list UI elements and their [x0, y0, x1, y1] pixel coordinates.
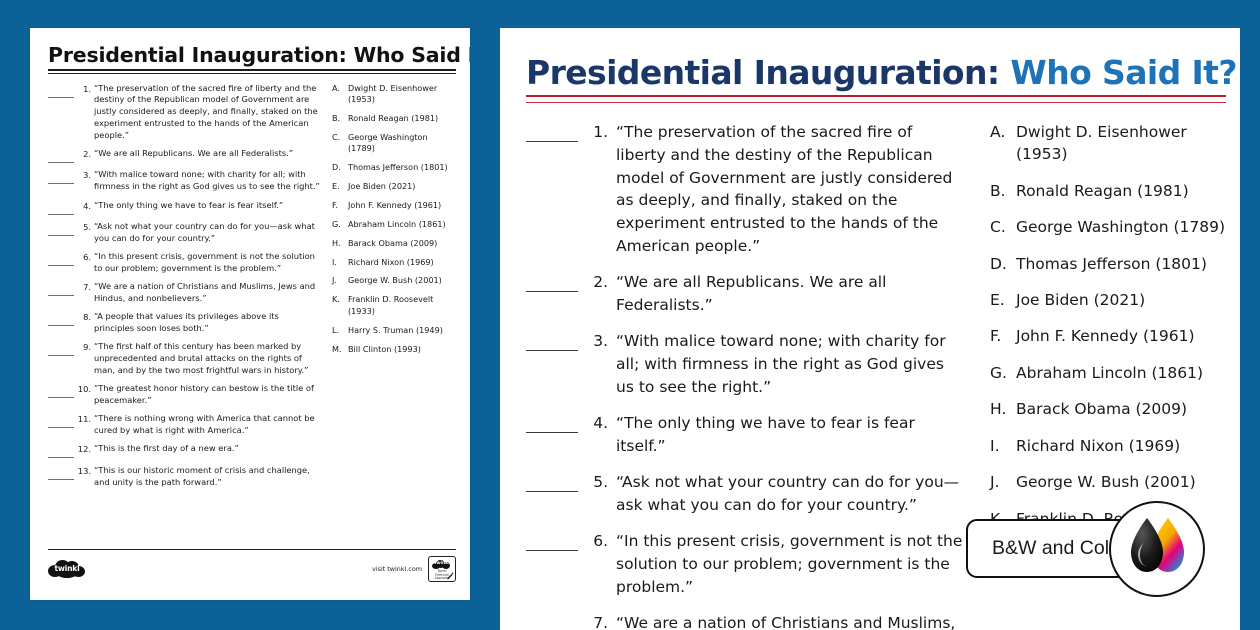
answer-letter: B. [990, 180, 1016, 202]
answer-blank-line[interactable] [526, 417, 578, 433]
answer-name: Bill Clinton (1993) [348, 344, 456, 355]
answer-row: A.Dwight D. Eisenhower (1953) [990, 121, 1226, 166]
bw-question-row: 4.“The only thing we have to fear is fea… [48, 200, 320, 215]
bw-worksheet-page[interactable]: Presidential Inauguration: Who Said It? … [30, 28, 470, 600]
title-part-primary: Presidential Inauguration: [526, 53, 1000, 92]
answer-row: C.George Washington (1789) [990, 216, 1226, 238]
bw-question-row: 11.“There is nothing wrong with America … [48, 413, 320, 437]
question-row: 6.“In this present crisis, government is… [526, 530, 966, 599]
answer-letter: C. [332, 132, 348, 143]
question-number: 3. [578, 330, 616, 353]
answer-blank-line[interactable] [48, 287, 74, 296]
answer-letter: A. [332, 83, 348, 94]
bw-question-row: 12.“This is the first day of a new era.” [48, 443, 320, 458]
twinkl-approved-badge: twinkl Twinkl Premium Approved [428, 556, 456, 582]
answer-letter: E. [990, 289, 1016, 311]
answer-name: George W. Bush (2001) [1016, 471, 1226, 493]
answer-name: Thomas Jefferson (1801) [1016, 253, 1226, 275]
question-text: “Ask not what your country can do for yo… [616, 471, 966, 517]
answer-letter: C. [990, 216, 1016, 238]
ink-drop-icon [1109, 501, 1205, 597]
answer-blank-line[interactable] [526, 617, 578, 630]
bw-answer-row: L.Harry S. Truman (1949) [332, 325, 456, 336]
answer-letter: M. [332, 344, 348, 355]
question-text: “This is the first day of a new era.” [94, 443, 320, 455]
question-number: 6. [578, 530, 616, 553]
answer-name: Thomas Jefferson (1801) [348, 162, 456, 173]
footer-right-group: visit twinkl.com twinkl Twinkl Premium A… [372, 556, 456, 582]
bw-page-footer: twinkl visit twinkl.com twinkl Twinkl Pr… [48, 549, 456, 582]
answer-letter: H. [990, 398, 1016, 420]
question-text: “A people that values its privileges abo… [94, 311, 320, 335]
color-question-column: 1.“The preservation of the sacred fire o… [526, 121, 966, 630]
screenshot-stage: Presidential Inauguration: Who Said It? … [0, 0, 1260, 630]
answer-name: Dwight D. Eisenhower (1953) [348, 83, 456, 106]
answer-letter: I. [990, 435, 1016, 457]
answer-letter: G. [990, 362, 1016, 384]
question-text: “The preservation of the sacred fire of … [94, 83, 320, 142]
answer-blank-line[interactable] [526, 476, 578, 492]
pencil-icon [446, 572, 454, 580]
bw-question-row: 1.“The preservation of the sacred fire o… [48, 83, 320, 142]
bw-question-row: 5.“Ask not what your country can do for … [48, 221, 320, 245]
bw-question-column: 1.“The preservation of the sacred fire o… [48, 83, 320, 495]
answer-letter: I. [332, 257, 348, 268]
question-number: 9. [74, 341, 94, 354]
bw-question-row: 13.“This is our historic moment of crisi… [48, 465, 320, 489]
answer-row: I. Richard Nixon (1969) [990, 435, 1226, 457]
answer-name: Abraham Lincoln (1861) [348, 219, 456, 230]
bw-answer-row: G. Abraham Lincoln (1861) [332, 219, 456, 230]
answer-name: John F. Kennedy (1961) [348, 200, 456, 211]
bw-answer-row: J.George W. Bush (2001) [332, 275, 456, 286]
answer-letter: J. [332, 275, 348, 286]
answer-letter: G. [332, 219, 348, 230]
answer-blank-line[interactable] [48, 257, 74, 266]
answer-blank-line[interactable] [526, 276, 578, 292]
question-number: 8. [74, 311, 94, 324]
answer-blank-line[interactable] [48, 471, 74, 480]
bw-answer-row: M.Bill Clinton (1993) [332, 344, 456, 355]
bw-answer-row: I. Richard Nixon (1969) [332, 257, 456, 268]
answer-name: Dwight D. Eisenhower (1953) [1016, 121, 1226, 166]
answer-blank-line[interactable] [48, 389, 74, 398]
question-row: 5.“Ask not what your country can do for … [526, 471, 966, 517]
answer-row: H.Barack Obama (2009) [990, 398, 1226, 420]
bw-answer-row: C.George Washington (1789) [332, 132, 456, 155]
answer-name: Joe Biden (2021) [1016, 289, 1226, 311]
bw-answer-row: A.Dwight D. Eisenhower (1953) [332, 83, 456, 106]
question-number: 12. [74, 443, 94, 456]
question-text: “We are a nation of Christians and Musli… [616, 612, 966, 630]
question-number: 11. [74, 413, 94, 426]
question-number: 6. [74, 251, 94, 264]
answer-name: Harry S. Truman (1949) [348, 325, 456, 336]
title-part-secondary: Who Said It? [1010, 53, 1237, 92]
question-number: 2. [74, 148, 94, 161]
answer-blank-line[interactable] [48, 227, 74, 236]
footer-row: twinkl visit twinkl.com twinkl Twinkl Pr… [48, 556, 456, 582]
question-number: 7. [74, 281, 94, 294]
bw-question-row: 9.“The first half of this century has be… [48, 341, 320, 376]
color-page-title: Presidential Inauguration: Who Said It? [526, 56, 1226, 91]
answer-letter: A. [990, 121, 1016, 143]
answer-blank-line[interactable] [526, 535, 578, 551]
badge-label: B&W and Color [992, 537, 1126, 560]
question-row: 7.“We are a nation of Christians and Mus… [526, 612, 966, 630]
question-text: “With malice toward none; with charity f… [94, 169, 320, 193]
question-number: 7. [578, 612, 616, 630]
bw-question-row: 8.“A people that values its privileges a… [48, 311, 320, 335]
question-row: 2.“We are all Republicans. We are all Fe… [526, 271, 966, 317]
question-text: “In this present crisis, government is n… [616, 530, 966, 599]
question-text: “We are a nation of Christians and Musli… [94, 281, 320, 305]
question-text: “The only thing we have to fear is fear … [94, 200, 320, 212]
bw-answer-row: K.Franklin D. Roosevelt (1933) [332, 294, 456, 317]
question-text: “In this present crisis, government is n… [94, 251, 320, 275]
answer-blank-line[interactable] [48, 347, 74, 356]
question-number: 4. [578, 412, 616, 435]
answer-name: Ronald Reagan (1981) [1016, 180, 1226, 202]
question-text: “The first half of this century has been… [94, 341, 320, 376]
answer-row: B.Ronald Reagan (1981) [990, 180, 1226, 202]
answer-name: Ronald Reagan (1981) [348, 113, 456, 124]
question-number: 13. [74, 465, 94, 478]
question-number: 1. [578, 121, 616, 144]
question-number: 5. [74, 221, 94, 234]
bw-page-content: Presidential Inauguration: Who Said It? … [48, 44, 456, 590]
answer-name: Barack Obama (2009) [348, 238, 456, 249]
twinkl-cloud-logo: twinkl [48, 559, 86, 579]
question-text: “We are all Republicans. We are all Fede… [616, 271, 966, 317]
question-row: 3.“With malice toward none; with charity… [526, 330, 966, 399]
answer-name: Barack Obama (2009) [1016, 398, 1226, 420]
answer-blank-line[interactable] [526, 335, 578, 351]
answer-letter: H. [332, 238, 348, 249]
question-text: “The only thing we have to fear is fear … [616, 412, 966, 458]
answer-letter: D. [990, 253, 1016, 275]
answer-name: Abraham Lincoln (1861) [1016, 362, 1226, 384]
answer-blank-line[interactable] [48, 175, 74, 184]
question-number: 1. [74, 83, 94, 96]
bw-question-row: 6.“In this present crisis, government is… [48, 251, 320, 275]
question-text: “Ask not what your country can do for yo… [94, 221, 320, 245]
bw-answer-row: E.Joe Biden (2021) [332, 181, 456, 192]
answer-name: George Washington (1789) [1016, 216, 1226, 238]
bw-question-row: 2.“We are all Republicans. We are all Fe… [48, 148, 320, 163]
bw-columns: 1.“The preservation of the sacred fire o… [48, 83, 456, 495]
question-number: 2. [578, 271, 616, 294]
question-number: 4. [74, 200, 94, 213]
bw-question-row: 7.“We are a nation of Christians and Mus… [48, 281, 320, 305]
question-text: “The preservation of the sacred fire of … [616, 121, 966, 259]
answer-name: Richard Nixon (1969) [348, 257, 456, 268]
bw-question-row: 3.“With malice toward none; with charity… [48, 169, 320, 193]
answer-blank-line[interactable] [526, 126, 578, 142]
answer-letter: B. [332, 113, 348, 124]
answer-letter: L. [332, 325, 348, 336]
bw-answer-row: F.John F. Kennedy (1961) [332, 200, 456, 211]
answer-name: Joe Biden (2021) [348, 181, 456, 192]
answer-letter: K. [332, 294, 348, 305]
answer-letter: D. [332, 162, 348, 173]
answer-row: D.Thomas Jefferson (1801) [990, 253, 1226, 275]
question-number: 10. [74, 383, 94, 396]
color-title-underline [526, 95, 1226, 103]
answer-row: F.John F. Kennedy (1961) [990, 325, 1226, 347]
question-text: “The greatest honor history can bestow i… [94, 383, 320, 407]
answer-blank-line[interactable] [48, 449, 74, 458]
answer-blank-line[interactable] [48, 89, 74, 98]
answer-row: J.George W. Bush (2001) [990, 471, 1226, 493]
bw-answer-row: H.Barack Obama (2009) [332, 238, 456, 249]
visit-twinkl-text: visit twinkl.com [372, 565, 422, 573]
question-row: 4.“The only thing we have to fear is fea… [526, 412, 966, 458]
question-text: “We are all Republicans. We are all Fede… [94, 148, 320, 160]
answer-blank-line[interactable] [48, 317, 74, 326]
answer-name: Franklin D. Roosevelt (1933) [348, 294, 456, 317]
question-number: 3. [74, 169, 94, 182]
question-row: 1.“The preservation of the sacred fire o… [526, 121, 966, 259]
answer-blank-line[interactable] [48, 419, 74, 428]
footer-divider [48, 549, 456, 550]
background-right-band [1240, 0, 1260, 630]
answer-name: Richard Nixon (1969) [1016, 435, 1226, 457]
question-text: “This is our historic moment of crisis a… [94, 465, 320, 489]
answer-name: George W. Bush (2001) [348, 275, 456, 286]
answer-row: E.Joe Biden (2021) [990, 289, 1226, 311]
answer-letter: E. [332, 181, 348, 192]
answer-name: George Washington (1789) [348, 132, 456, 155]
mini-logo-text: twinkl [429, 561, 455, 566]
answer-letter: F. [332, 200, 348, 211]
bw-and-color-badge[interactable]: B&W and Color [966, 519, 1238, 578]
bw-answer-column: A.Dwight D. Eisenhower (1953)B.Ronald Re… [320, 83, 456, 495]
bw-answer-row: B.Ronald Reagan (1981) [332, 113, 456, 124]
answer-letter: J. [990, 471, 1016, 493]
twinkl-logo-text: twinkl [48, 564, 86, 573]
answer-letter: F. [990, 325, 1016, 347]
answer-name: John F. Kennedy (1961) [1016, 325, 1226, 347]
bw-page-title: Presidential Inauguration: Who Said It? [48, 44, 456, 67]
question-text: “There is nothing wrong with America tha… [94, 413, 320, 437]
answer-row: G. Abraham Lincoln (1861) [990, 362, 1226, 384]
bw-title-underline [48, 69, 456, 74]
bw-answer-row: D.Thomas Jefferson (1801) [332, 162, 456, 173]
question-text: “With malice toward none; with charity f… [616, 330, 966, 399]
bw-question-row: 10.“The greatest honor history can besto… [48, 383, 320, 407]
answer-blank-line[interactable] [48, 154, 74, 163]
question-number: 5. [578, 471, 616, 494]
answer-blank-line[interactable] [48, 206, 74, 215]
